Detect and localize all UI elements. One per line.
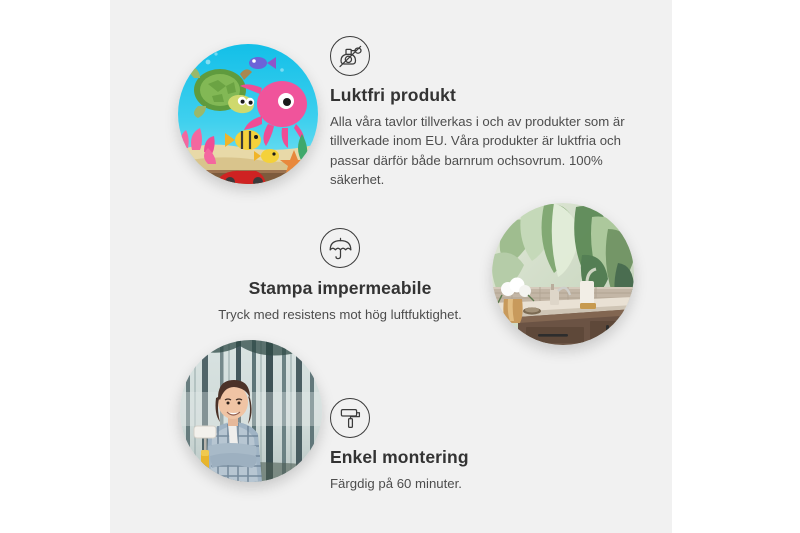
feature-mounting: Enkel montering Färgdig på 60 minuter. — [330, 398, 610, 493]
feature-description: Färgdig på 60 minuter. — [330, 474, 610, 493]
feature-description: Tryck med resistens mot hög luftfuktighe… — [200, 305, 480, 324]
umbrella-icon — [320, 228, 360, 268]
product-feature-panel: Luktfri produkt Alla våra tavlor tillver… — [0, 0, 800, 533]
perfume-bottle-crossed-out-icon — [330, 36, 370, 76]
feature-title: Luktfri produkt — [330, 85, 630, 107]
feature-title: Stampa impermeabile — [200, 278, 480, 300]
feature-title: Enkel montering — [330, 447, 610, 469]
feature-waterproof: Stampa impermeabile Tryck med resistens … — [200, 228, 480, 324]
feature-description: Alla våra tavlor tillverkas i och av pro… — [330, 112, 630, 190]
product-image-bathroom[interactable] — [492, 203, 634, 345]
product-image-underwater[interactable] — [178, 44, 318, 184]
feature-odourless: Luktfri produkt Alla våra tavlor tillver… — [330, 36, 630, 190]
product-image-installer[interactable] — [180, 340, 322, 482]
paint-roller-icon — [330, 398, 370, 438]
